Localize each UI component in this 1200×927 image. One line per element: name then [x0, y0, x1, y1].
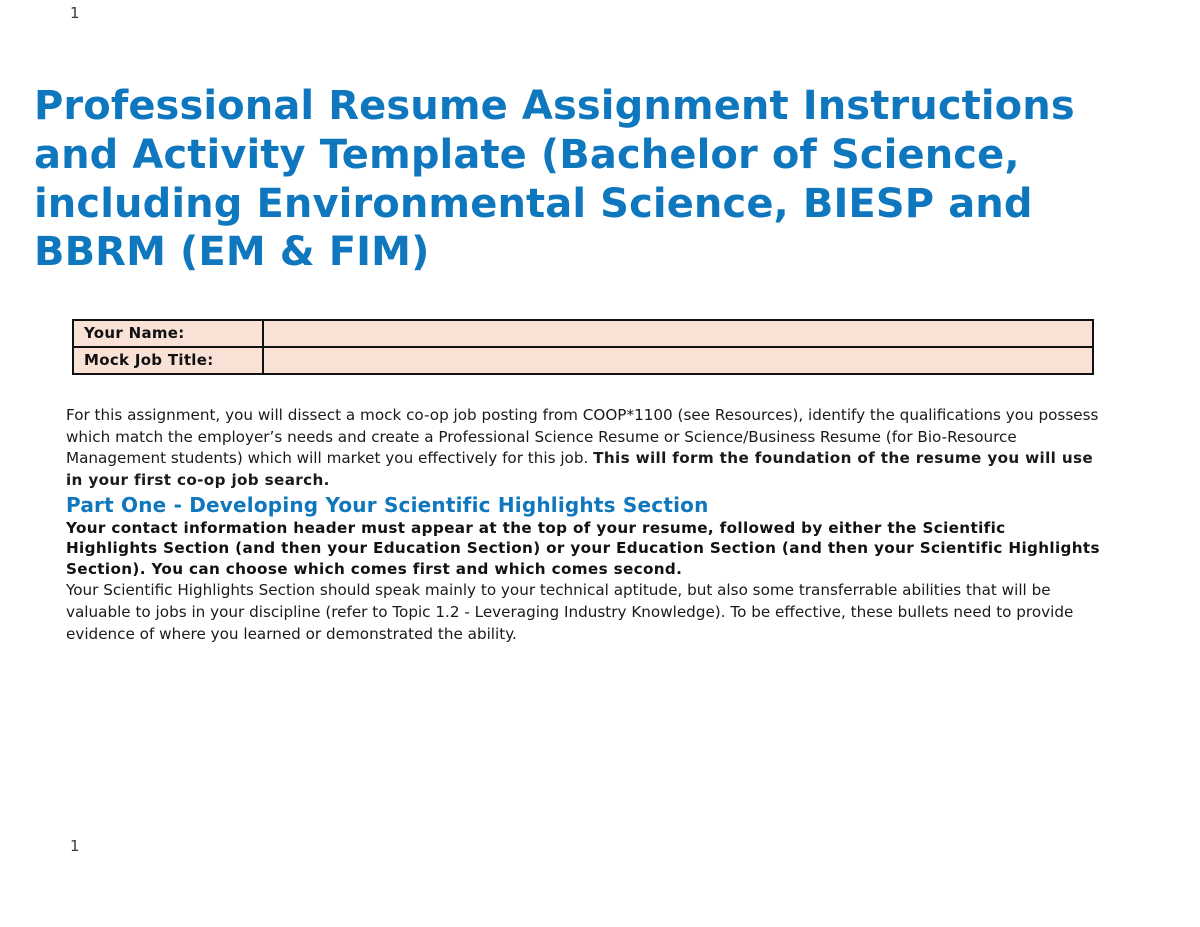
table-row: Mock Job Title:: [73, 347, 1093, 374]
part-one-heading: Part One - Developing Your Scientific Hi…: [66, 492, 1101, 518]
intro-paragraph: For this assignment, you will dissect a …: [66, 405, 1101, 491]
page-title: Professional Resume Assignment Instructi…: [34, 82, 1109, 277]
your-name-label: Your Name:: [73, 320, 263, 347]
page-marker-bottom: 1: [70, 839, 80, 854]
mock-job-title-field[interactable]: [263, 347, 1093, 374]
part-one-body-paragraph: Your Scientific Highlights Section shoul…: [66, 580, 1101, 645]
page-marker-top: 1: [70, 6, 80, 21]
info-table-container: Your Name: Mock Job Title:: [72, 319, 1094, 375]
body-content: For this assignment, you will dissect a …: [66, 405, 1101, 645]
mock-job-title-label: Mock Job Title:: [73, 347, 263, 374]
document-page: 1 Professional Resume Assignment Instruc…: [0, 0, 1200, 927]
document-content: Professional Resume Assignment Instructi…: [34, 82, 1109, 645]
table-row: Your Name:: [73, 320, 1093, 347]
your-name-field[interactable]: [263, 320, 1093, 347]
name-and-job-title-table: Your Name: Mock Job Title:: [72, 319, 1094, 375]
part-one-bold-paragraph: Your contact information header must app…: [66, 518, 1101, 581]
